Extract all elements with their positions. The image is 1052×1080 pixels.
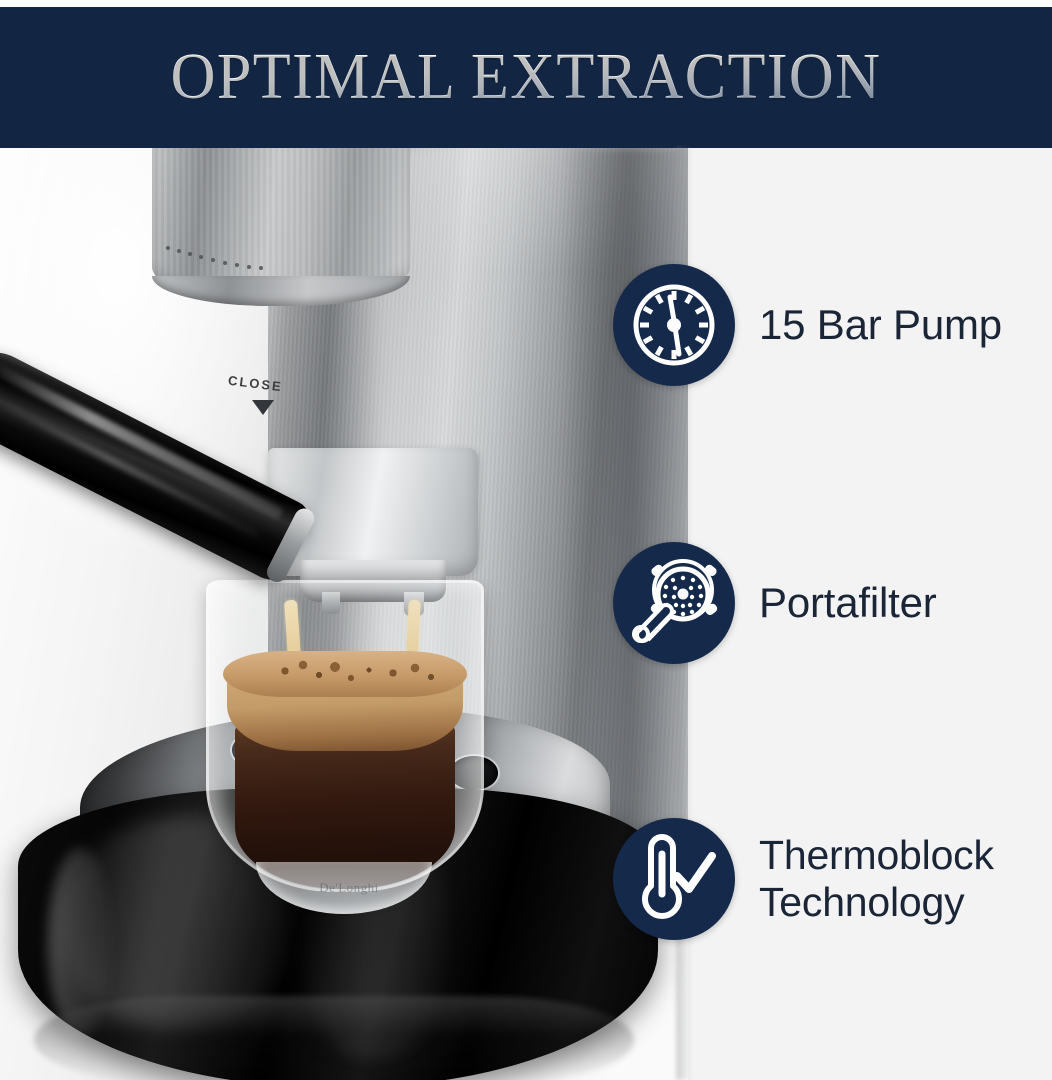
feature-item-thermoblock: Thermoblock Technology: [613, 818, 994, 940]
product-infographic: OPTIMAL EXTRACTION CLOSE: [0, 0, 1052, 1080]
feature-label: 15 Bar Pump: [759, 301, 1002, 349]
machine-body-shadow: [560, 148, 688, 848]
cup-glass: [206, 580, 484, 892]
espresso-cup: De'Longhi: [196, 580, 496, 920]
pressure-gauge-icon: [613, 264, 735, 386]
header-banner: OPTIMAL EXTRACTION: [0, 7, 1052, 148]
thermometer-check-icon: [613, 818, 735, 940]
feature-item-pump: 15 Bar Pump: [613, 264, 1002, 386]
feature-item-portafilter: Portafilter: [613, 542, 937, 664]
steam-knob-scale-dots: [166, 244, 278, 272]
product-photo: CLOSE De': [0, 148, 688, 1080]
portafilter-icon: [613, 542, 735, 664]
feature-label: Portafilter: [759, 579, 937, 627]
cup-brand-logo: De'Longhi: [296, 880, 402, 896]
steam-knob-pointer-icon: [252, 400, 274, 415]
page-title: OPTIMAL EXTRACTION: [32, 39, 1021, 115]
feature-label: Thermoblock Technology: [759, 832, 994, 926]
espresso-crema-foam: [223, 651, 467, 697]
machine-base-rim: [34, 996, 634, 1080]
